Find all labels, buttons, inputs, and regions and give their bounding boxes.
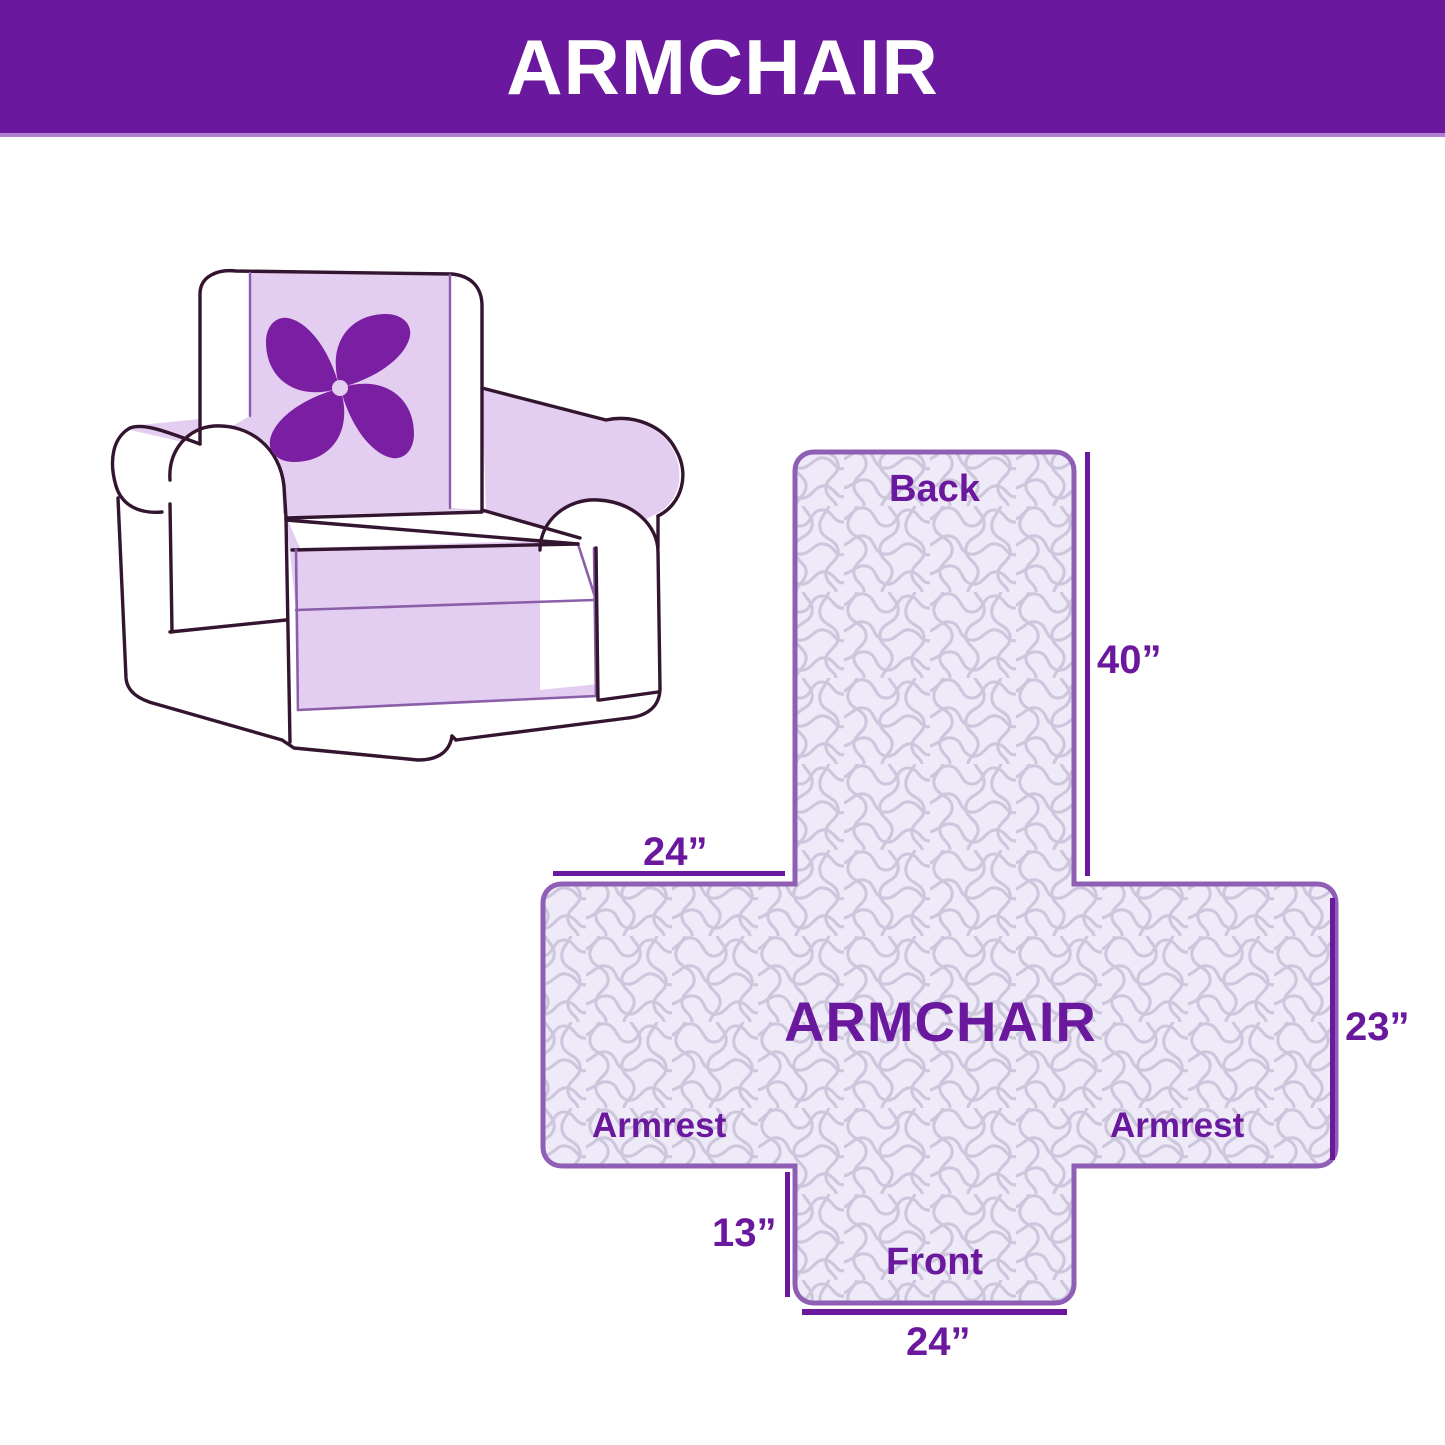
slipcover-cross-diagram bbox=[500, 420, 1430, 1350]
panel-label-back: Back bbox=[889, 470, 980, 508]
header-underline-divider bbox=[0, 133, 1445, 137]
dimension-label-back-width: 24” bbox=[643, 832, 708, 872]
panel-label-armrest-right: Armrest bbox=[1110, 1108, 1244, 1143]
dimension-line-back-height bbox=[1085, 452, 1090, 876]
dimension-line-front-width bbox=[802, 1309, 1067, 1315]
dimension-label-back-height: 40” bbox=[1097, 640, 1162, 680]
dimension-label-front-height: 13” bbox=[712, 1213, 777, 1253]
cover-outline-shape bbox=[543, 452, 1336, 1303]
panel-label-armchair: ARMCHAIR bbox=[784, 994, 1097, 1050]
dimension-label-front-width: 24” bbox=[906, 1322, 971, 1362]
panel-label-front: Front bbox=[886, 1243, 983, 1281]
dimension-label-seat-depth: 23” bbox=[1345, 1007, 1410, 1047]
panel-label-armrest-left: Armrest bbox=[592, 1108, 726, 1143]
page-title: ARMCHAIR bbox=[506, 28, 939, 106]
dimension-line-seat-depth bbox=[1330, 898, 1335, 1160]
dimension-line-front-height bbox=[785, 1172, 790, 1297]
header-banner: ARMCHAIR bbox=[0, 0, 1445, 133]
